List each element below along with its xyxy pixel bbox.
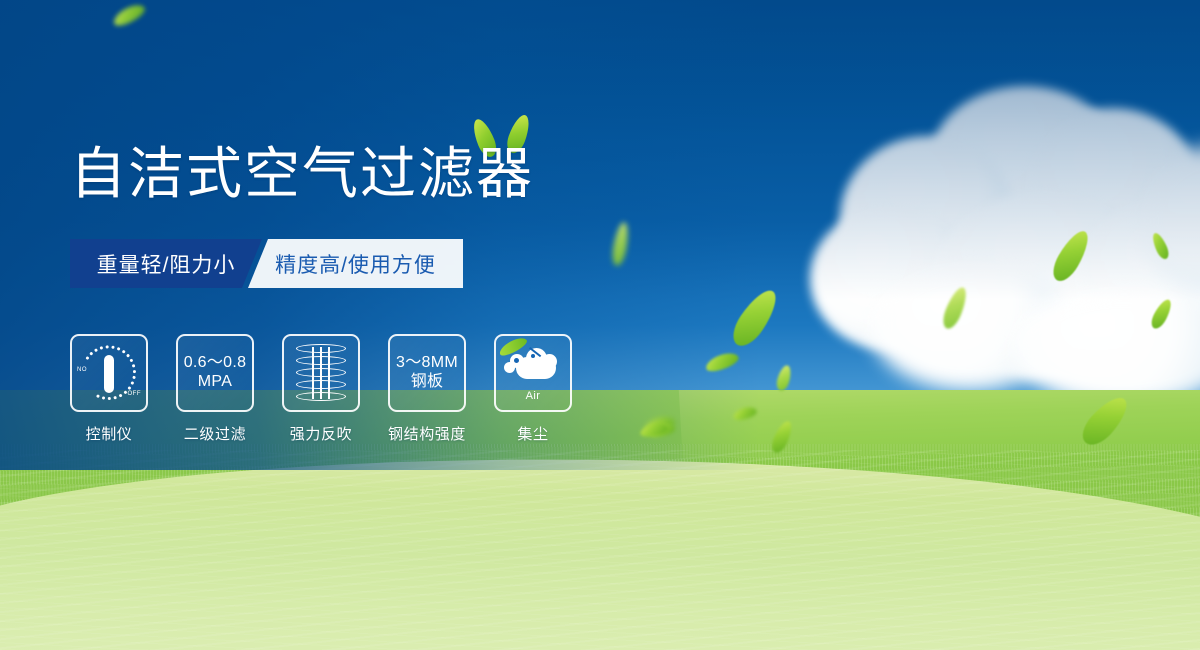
dust-hole	[531, 354, 535, 358]
gauge-off-label: OFF	[128, 391, 142, 397]
steel-material: 钢板	[396, 373, 458, 392]
feature-item-steel-strength[interactable]: 3～8MM 钢板 钢结构强度	[388, 334, 466, 444]
feature-item-pulse-blowback[interactable]: 强力反吹	[282, 334, 360, 444]
cloud-bump	[542, 354, 557, 369]
feature-label: 二级过滤	[184, 423, 246, 444]
feature-list: NO OFF 控制仪 0.6～0.8 MPA 二级过滤	[70, 334, 572, 444]
pressure-value: 0.6～0.8	[184, 354, 247, 373]
page-title: 自洁式空气过滤器	[70, 146, 534, 202]
feature-label: 控制仪	[86, 423, 133, 444]
subtitle-left-block: 重量轻/阻力小	[70, 239, 262, 288]
steel-plate-text-icon: 3～8MM 钢板	[396, 354, 458, 392]
feature-item-dust-collection[interactable]: Air 集尘	[494, 334, 572, 444]
feature-label: 集尘	[517, 423, 548, 444]
feature-item-two-stage-filter[interactable]: 0.6～0.8 MPA 二级过滤	[176, 334, 254, 444]
dust-hole	[514, 358, 519, 363]
subtitle-right-text: 精度高/使用方便	[275, 249, 436, 279]
air-cloud-icon: Air	[502, 345, 564, 401]
feature-label: 钢结构强度	[388, 423, 466, 444]
gauge-icon: NO OFF	[78, 342, 140, 404]
air-label: Air	[502, 390, 564, 402]
feature-label: 强力反吹	[290, 423, 352, 444]
steel-thickness: 3～8MM	[396, 354, 458, 373]
gauge-needle	[104, 355, 114, 393]
pressure-unit: MPA	[184, 373, 247, 392]
feature-icon-box: NO OFF	[70, 334, 148, 412]
feature-icon-box: Air	[494, 334, 572, 412]
feature-icon-box: 3～8MM 钢板	[388, 334, 466, 412]
feature-item-controller[interactable]: NO OFF 控制仪	[70, 334, 148, 444]
feature-icon-box: 0.6～0.8 MPA	[176, 334, 254, 412]
pressure-text-icon: 0.6～0.8 MPA	[184, 354, 247, 392]
product-banner: 自洁式空气过滤器 重量轻/阻力小 精度高/使用方便	[0, 0, 1200, 650]
grass-sheen	[0, 450, 1200, 650]
subtitle-right-block: 精度高/使用方便	[248, 239, 463, 288]
gauge-on-label: NO	[77, 367, 87, 373]
cloud-puff	[504, 362, 515, 373]
coil-filter-icon	[296, 344, 346, 402]
subtitle-left-text: 重量轻/阻力小	[97, 249, 236, 279]
feature-icon-box	[282, 334, 360, 412]
